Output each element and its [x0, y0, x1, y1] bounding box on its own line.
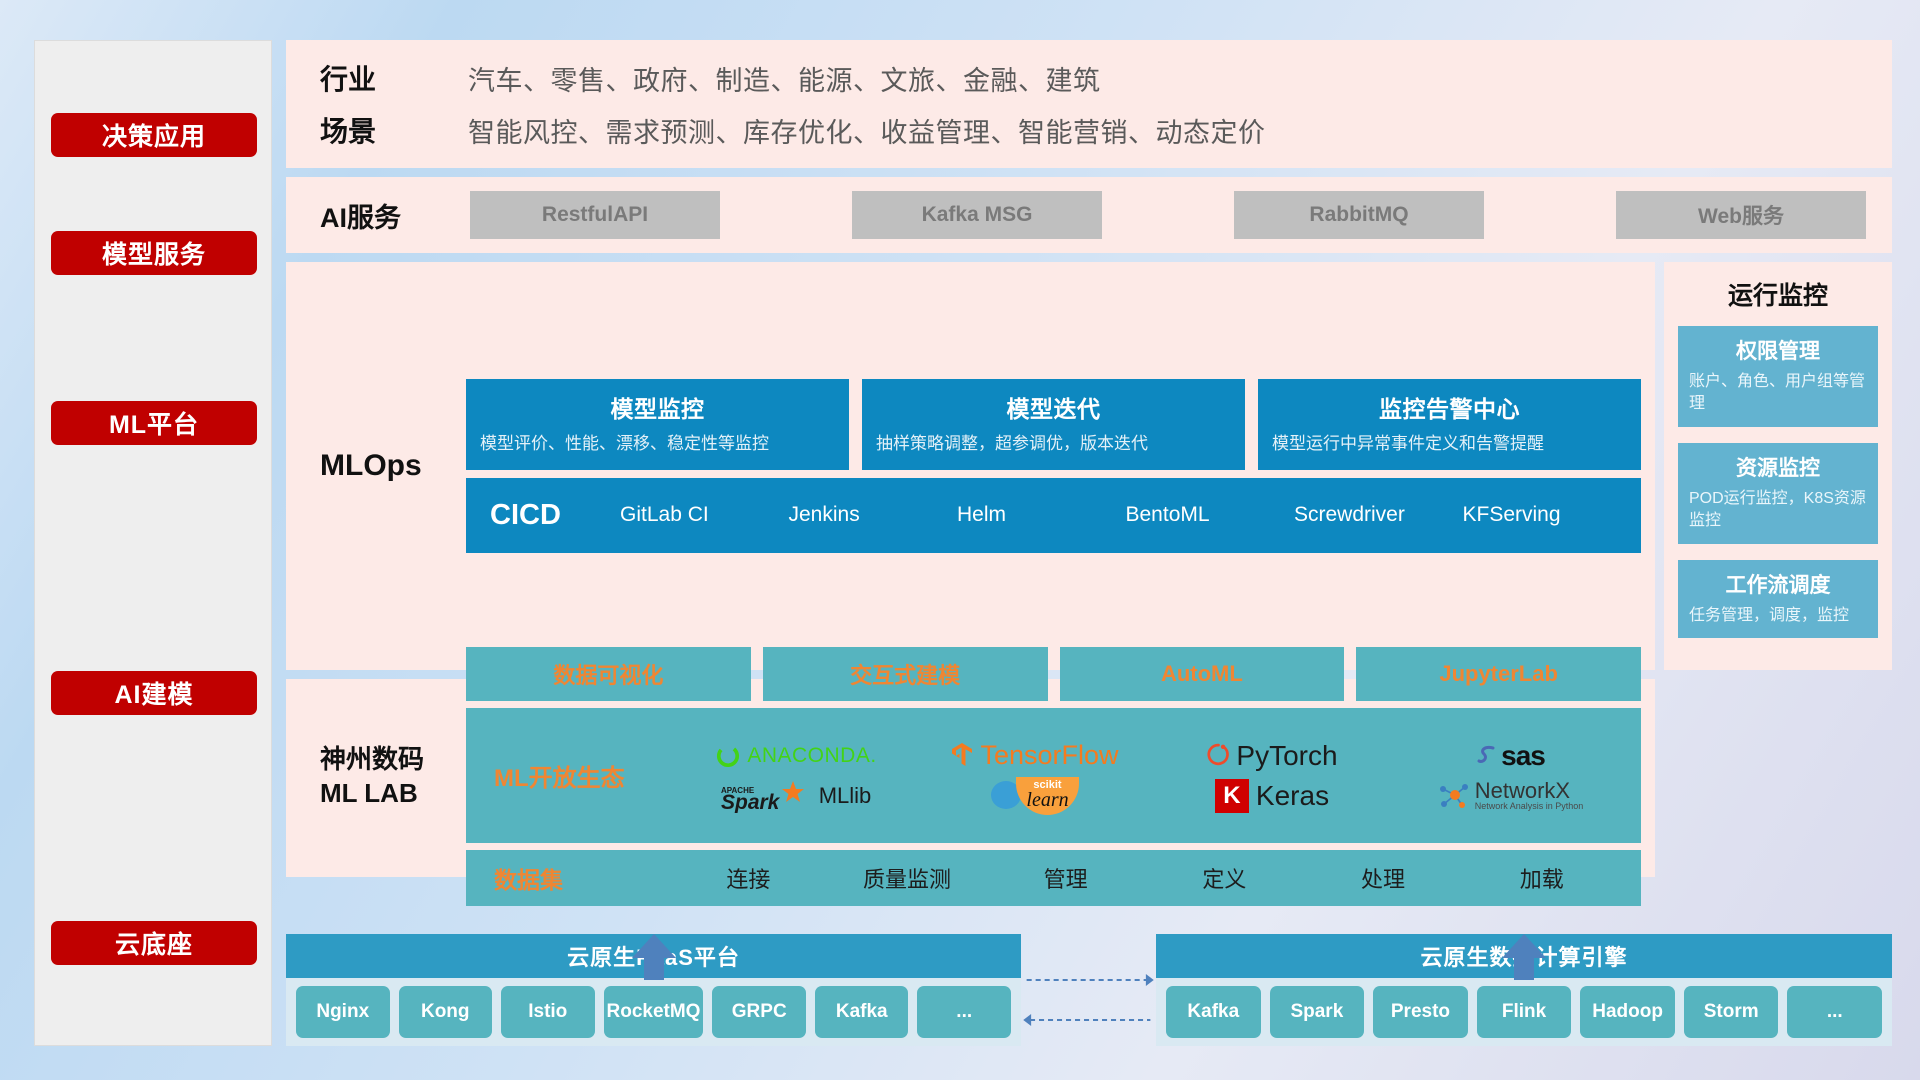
sidebar-item-label: AI建模	[114, 675, 193, 711]
card-title: 工作流调度	[1689, 569, 1867, 599]
paas-column: 云原生PaaS平台 Nginx Kong Istio RocketMQ GRPC…	[286, 888, 1021, 1046]
chip-kong[interactable]: Kong	[399, 986, 493, 1038]
card-title: 模型监控	[480, 390, 835, 424]
chip-label: Kafka	[836, 1002, 888, 1023]
data-engine-arrow-wrap	[1156, 888, 1892, 934]
chip-presto[interactable]: Presto	[1373, 986, 1468, 1038]
ml-ecosystem-label: ML开放生态	[494, 758, 669, 793]
service-web[interactable]: Web服务	[1616, 191, 1866, 239]
ml-lab-label-line1: 神州数码	[320, 743, 450, 777]
logo-text: sas	[1501, 740, 1545, 772]
mlops-body: 模型监控 模型评价、性能、漂移、稳定性等监控 模型迭代 抽样策略调整，超参调优，…	[466, 379, 1641, 553]
data-engine-column: 云原生数据计算引擎 Kafka Spark Presto Flink Hadoo…	[1156, 888, 1892, 1046]
chip-istio[interactable]: Istio	[501, 986, 595, 1038]
ai-service-list: RestfulAPI Kafka MSG RabbitMQ Web服务	[470, 191, 1866, 239]
card-title: 监控告警中心	[1272, 390, 1627, 424]
chip-label: Presto	[1391, 1002, 1450, 1023]
tool-label: 交互式建模	[850, 658, 960, 690]
ai-service-label: AI服务	[320, 196, 470, 235]
chip-label: Kafka	[1187, 1002, 1239, 1023]
ml-platform-band: MLOps 模型监控 模型评价、性能、漂移、稳定性等监控 模型迭代 抽样策略调整…	[286, 262, 1892, 670]
ml-lab-label-line2: ML LAB	[320, 777, 450, 811]
logo-text: NetworkX	[1475, 780, 1584, 802]
service-label: Web服务	[1698, 200, 1784, 230]
scenario-values: 智能风控、需求预测、库存优化、收益管理、智能营销、动态定价	[468, 111, 1266, 150]
chip-spark[interactable]: Spark	[1270, 986, 1365, 1038]
cicd-item-kfserving[interactable]: KFServing	[1463, 502, 1632, 528]
logo-text: ANACONDA.	[747, 744, 876, 768]
card-title: 权限管理	[1689, 335, 1867, 365]
cicd-row: CICD GitLab CI Jenkins Helm BentoML Scre…	[466, 478, 1641, 553]
tool-tiles-row: 数据可视化 交互式建模 AutoML JupyterLab	[466, 647, 1641, 701]
cloud-foundation-band: 云原生PaaS平台 Nginx Kong Istio RocketMQ GRPC…	[286, 886, 1892, 1046]
industry-label: 行业	[320, 58, 412, 98]
industry-values: 汽车、零售、政府、制造、能源、文旅、金融、建筑	[468, 59, 1101, 98]
chip-label: Nginx	[316, 1002, 369, 1023]
ml-lab-label: 神州数码 ML LAB	[320, 743, 450, 811]
logo-text: PyTorch	[1236, 740, 1337, 772]
logo-text: Keras	[1256, 780, 1329, 812]
monitor-card-permission[interactable]: 权限管理 账户、角色、用户组等管理	[1678, 326, 1878, 427]
sidebar-item-cloud-base[interactable]: 云底座	[51, 921, 257, 965]
card-title: 模型迭代	[876, 390, 1231, 424]
chip-flink[interactable]: Flink	[1477, 986, 1572, 1038]
service-kafka-msg[interactable]: Kafka MSG	[852, 191, 1102, 239]
chip-label: Kong	[421, 1002, 470, 1023]
ai-service-band: AI服务 RestfulAPI Kafka MSG RabbitMQ Web服务	[286, 177, 1892, 253]
card-title: 资源监控	[1689, 452, 1867, 482]
service-restful-api[interactable]: RestfulAPI	[470, 191, 720, 239]
logo-tagline: Network Analysis in Python	[1475, 802, 1584, 811]
card-desc: 模型运行中异常事件定义和告警提醒	[1272, 432, 1627, 457]
tool-automl[interactable]: AutoML	[1060, 647, 1345, 701]
service-label: RabbitMQ	[1309, 203, 1408, 227]
chip-kafka[interactable]: Kafka	[1166, 986, 1261, 1038]
data-engine-chips: Kafka Spark Presto Flink Hadoop Storm ..…	[1156, 978, 1892, 1046]
ml-lab-body: 数据可视化 交互式建模 AutoML JupyterLab ML开放生态 ANA…	[466, 647, 1641, 906]
service-rabbitmq[interactable]: RabbitMQ	[1234, 191, 1484, 239]
sas-logo: sas	[1475, 740, 1545, 772]
ai-modeling-band: 神州数码 ML LAB 数据可视化 交互式建模 AutoML JupyterLa…	[286, 679, 1892, 877]
scenario-label: 场景	[320, 110, 412, 150]
chip-grpc[interactable]: GRPC	[712, 986, 806, 1038]
chip-label: Istio	[528, 1002, 567, 1023]
chip-storm[interactable]: Storm	[1684, 986, 1779, 1038]
decision-application-band: 行业 汽车、零售、政府、制造、能源、文旅、金融、建筑 场景 智能风控、需求预测、…	[286, 40, 1892, 168]
card-desc: 任务管理，调度，监控	[1689, 605, 1867, 627]
cicd-item-screwdriver[interactable]: Screwdriver	[1294, 502, 1463, 528]
sidebar-item-label: 云底座	[115, 925, 193, 961]
runtime-monitor-panel: 运行监控 权限管理 账户、角色、用户组等管理 资源监控 POD运行监控，K8S资…	[1664, 262, 1892, 670]
cicd-item-helm[interactable]: Helm	[957, 502, 1126, 528]
chip-label: Storm	[1704, 1002, 1759, 1023]
chip-nginx[interactable]: Nginx	[296, 986, 390, 1038]
tool-label: JupyterLab	[1439, 661, 1558, 687]
mlops-card-alert-center[interactable]: 监控告警中心 模型运行中异常事件定义和告警提醒	[1258, 379, 1641, 470]
pytorch-logo: PyTorch	[1206, 740, 1337, 772]
sidebar-item-ml-platform[interactable]: ML平台	[51, 401, 257, 445]
paas-chips: Nginx Kong Istio RocketMQ GRPC Kafka ...	[286, 978, 1021, 1046]
tool-interactive-modeling[interactable]: 交互式建模	[763, 647, 1048, 701]
logo-mark: K	[1215, 779, 1249, 813]
cicd-item-gitlab-ci[interactable]: GitLab CI	[620, 502, 789, 528]
mlops-section: MLOps 模型监控 模型评价、性能、漂移、稳定性等监控 模型迭代 抽样策略调整…	[286, 262, 1655, 670]
logo-text: learn	[1026, 791, 1068, 810]
anaconda-logo: ANACONDA.	[715, 743, 876, 769]
runtime-monitor-title: 运行监控	[1678, 276, 1878, 312]
chip-kafka[interactable]: Kafka	[815, 986, 909, 1038]
cicd-item-jenkins[interactable]: Jenkins	[789, 502, 958, 528]
sidebar-item-label: ML平台	[109, 405, 199, 441]
keras-logo: K Keras	[1215, 779, 1329, 813]
cicd-item-bentoml[interactable]: BentoML	[1126, 502, 1295, 528]
monitor-card-resource[interactable]: 资源监控 POD运行监控，K8S资源监控	[1678, 443, 1878, 544]
card-desc: 账户、角色、用户组等管理	[1689, 371, 1867, 416]
card-desc: POD运行监控，K8S资源监控	[1689, 488, 1867, 533]
sidebar-item-decision[interactable]: 决策应用	[51, 113, 257, 157]
chip-label: Hadoop	[1592, 1002, 1663, 1023]
chip-rocketmq[interactable]: RocketMQ	[604, 986, 704, 1038]
diagram-root: 决策应用 模型服务 ML平台 AI建模 云底座 行业 汽车、零售、政府、制造、能…	[0, 0, 1920, 1080]
card-desc: 抽样策略调整，超参调优，版本迭代	[876, 432, 1231, 457]
chip-more[interactable]: ...	[1787, 986, 1882, 1038]
chip-label: Flink	[1502, 1002, 1546, 1023]
service-label: RestfulAPI	[542, 203, 648, 227]
chip-more[interactable]: ...	[917, 986, 1011, 1038]
bidirectional-connector	[1021, 936, 1156, 1046]
industry-row: 行业 汽车、零售、政府、制造、能源、文旅、金融、建筑	[320, 58, 1866, 98]
tool-data-visualization[interactable]: 数据可视化	[466, 647, 751, 701]
chip-label: Spark	[1290, 1002, 1343, 1023]
paas-arrow-wrap	[286, 888, 1021, 934]
chip-label: ...	[1827, 1002, 1843, 1023]
layers-stack: 行业 汽车、零售、政府、制造、能源、文旅、金融、建筑 场景 智能风控、需求预测、…	[286, 40, 1892, 1046]
sidebar-item-label: 模型服务	[102, 235, 206, 271]
networkx-logo: NetworkX Network Analysis in Python	[1437, 780, 1584, 811]
mlops-card-row: 模型监控 模型评价、性能、漂移、稳定性等监控 模型迭代 抽样策略调整，超参调优，…	[466, 379, 1641, 470]
mlops-card-model-iteration[interactable]: 模型迭代 抽样策略调整，超参调优，版本迭代	[862, 379, 1245, 470]
card-desc: 模型评价、性能、漂移、稳定性等监控	[480, 432, 835, 457]
service-label: Kafka MSG	[922, 203, 1033, 227]
tool-label: 数据可视化	[553, 658, 663, 690]
mlops-label: MLOps	[320, 449, 450, 483]
sidebar-item-ai-modeling[interactable]: AI建模	[51, 671, 257, 715]
layer-sidebar: 决策应用 模型服务 ML平台 AI建模 云底座	[34, 40, 272, 1046]
tool-jupyterlab[interactable]: JupyterLab	[1356, 647, 1641, 701]
chip-label: RocketMQ	[607, 1002, 701, 1023]
monitor-column-spacer	[1664, 679, 1892, 877]
monitor-card-workflow[interactable]: 工作流调度 任务管理，调度，监控	[1678, 560, 1878, 638]
chip-label: GRPC	[732, 1002, 787, 1023]
tool-label: AutoML	[1161, 661, 1243, 687]
sidebar-item-model-service[interactable]: 模型服务	[51, 231, 257, 275]
logo-text-suffix: MLlib	[819, 783, 872, 809]
logo-text: TensorFlow	[980, 740, 1118, 771]
mlops-card-model-monitor[interactable]: 模型监控 模型评价、性能、漂移、稳定性等监控	[466, 379, 849, 470]
svg-text:Spark: Spark	[721, 791, 781, 813]
sidebar-item-label: 决策应用	[102, 117, 206, 153]
spark-mllib-logo: APACHE Spark MLlib	[721, 779, 872, 813]
ml-ecosystem-logos: ANACONDA. TensorFlow	[679, 737, 1627, 815]
chip-hadoop[interactable]: Hadoop	[1580, 986, 1675, 1038]
ml-lab-section: 神州数码 ML LAB 数据可视化 交互式建模 AutoML JupyterLa…	[286, 679, 1655, 877]
scikit-learn-logo: scikit learn	[989, 777, 1078, 815]
ml-ecosystem-row: ML开放生态 ANACONDA.	[466, 708, 1641, 843]
chip-label: ...	[956, 1002, 972, 1023]
cicd-title: CICD	[490, 499, 620, 532]
scenario-row: 场景 智能风控、需求预测、库存优化、收益管理、智能营销、动态定价	[320, 110, 1866, 150]
cicd-items: GitLab CI Jenkins Helm BentoML Screwdriv…	[620, 502, 1631, 528]
tensorflow-logo: TensorFlow	[949, 740, 1118, 771]
